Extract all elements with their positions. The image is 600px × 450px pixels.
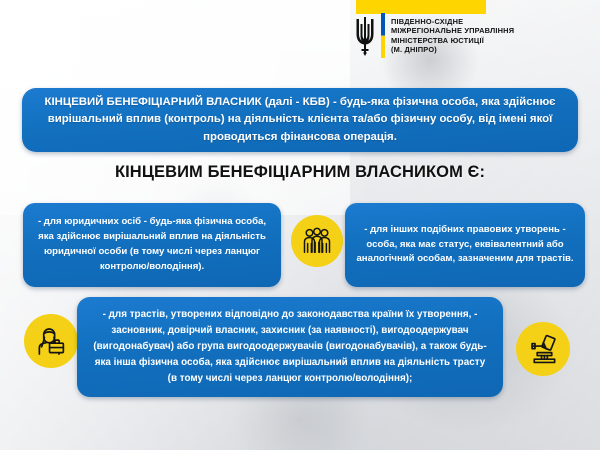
org-line-3: МІНІСТЕРСТВА ЮСТИЦІЇ <box>391 36 514 45</box>
organization-logo-block: ПІВДЕННО-СХІДНЕ МІЖРЕГІОНАЛЬНЕ УПРАВЛІНН… <box>355 13 514 58</box>
header-yellow-bar <box>356 0 486 14</box>
gavel-icon <box>516 322 570 376</box>
org-line-4: (М. ДНІПРО) <box>391 45 514 54</box>
ukrainian-trident-icon <box>355 13 375 58</box>
card-trusts-text: - для трастів, утворених відповідно до з… <box>91 307 489 386</box>
slide: ПІВДЕННО-СХІДНЕ МІЖРЕГІОНАЛЬНЕ УПРАВЛІНН… <box>0 0 600 450</box>
org-line-2: МІЖРЕГІОНАЛЬНЕ УПРАВЛІННЯ <box>391 26 514 35</box>
card-other-legal-formations-text: - для інших подібних правових утворень -… <box>354 223 576 268</box>
definition-text: КІНЦЕВИЙ БЕНЕФІЦІАРНИЙ ВЛАСНИК (далі - К… <box>34 94 566 146</box>
definition-banner: КІНЦЕВИЙ БЕНЕФІЦІАРНИЙ ВЛАСНИК (далі - К… <box>22 88 578 152</box>
section-heading: КІНЦЕВИМ БЕНЕФІЦІАРНИМ ВЛАСНИКОМ Є: <box>0 163 600 182</box>
card-other-legal-formations: - для інших подібних правових утворень -… <box>345 203 585 287</box>
card-trusts: - для трастів, утворених відповідно до з… <box>77 297 503 397</box>
organization-name: ПІВДЕННО-СХІДНЕ МІЖРЕГІОНАЛЬНЕ УПРАВЛІНН… <box>391 17 514 53</box>
card-legal-entities-text: - для юридичних осіб - будь-яка фізична … <box>32 215 272 274</box>
flag-divider <box>381 13 385 58</box>
people-group-icon <box>291 215 343 267</box>
org-line-1: ПІВДЕННО-СХІДНЕ <box>391 17 514 26</box>
card-legal-entities: - для юридичних осіб - будь-яка фізична … <box>23 203 281 287</box>
person-briefcase-icon <box>24 314 78 368</box>
